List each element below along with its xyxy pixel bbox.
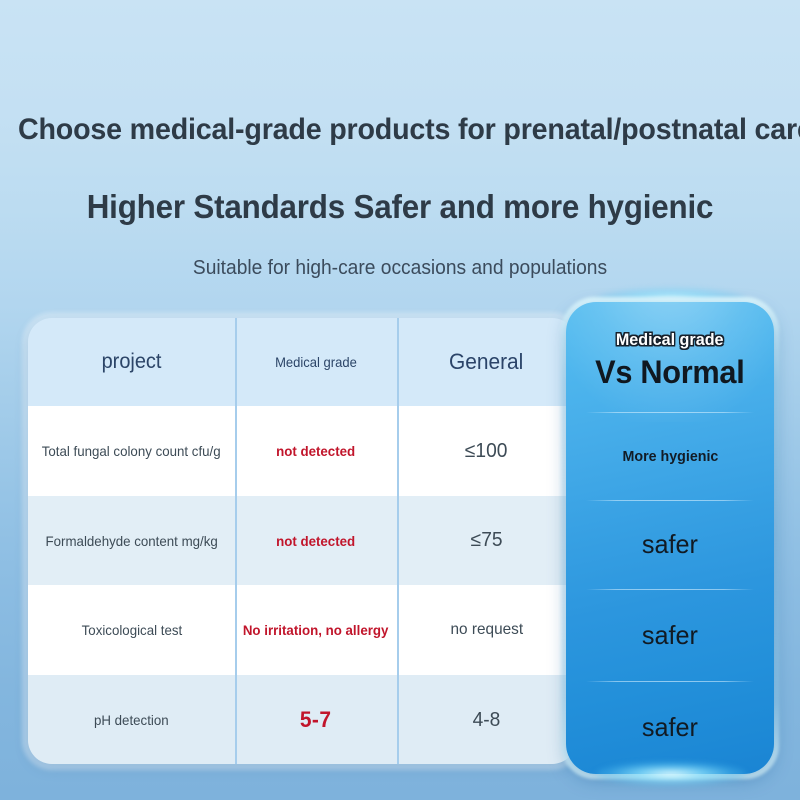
cell-text-general: ≤100 [465, 440, 508, 463]
cell-medical: not detected [235, 406, 397, 496]
cell-general: ≤100 [397, 406, 576, 496]
header-cell-project: project [28, 318, 235, 406]
cell-text-project: Total fungal colony count cfu/g [42, 443, 221, 459]
cell-medical: No irritation, no allergy [235, 585, 397, 675]
panel-item: safer [566, 500, 774, 589]
page-title-secondary: Higher Standards Safer and more hygienic [20, 188, 780, 226]
table-row: pH detection 5-7 4-8 [28, 675, 576, 764]
cell-text-medical: not detected [276, 533, 355, 549]
cell-project: Formaldehyde content mg/kg [28, 496, 235, 585]
panel-divider [586, 681, 754, 682]
panel-item-label: safer [642, 529, 698, 560]
panel-header: Medical grade Vs Normal [566, 302, 774, 412]
panel-item: safer [566, 681, 774, 774]
cell-text-general: ≤75 [471, 529, 503, 552]
panel-divider [586, 412, 754, 413]
header-cell-medical: Medical grade [235, 318, 397, 406]
column-divider-1 [235, 496, 237, 585]
panel-item-label: safer [642, 620, 698, 651]
panel-divider [586, 500, 754, 501]
cell-medical: 5-7 [235, 675, 397, 764]
header-label-general: General [449, 349, 523, 375]
column-divider-1 [235, 675, 237, 764]
column-divider-2 [397, 496, 399, 585]
column-divider-1 [235, 585, 237, 675]
cell-text-general: no request [450, 621, 523, 639]
panel-item: More hygienic [566, 412, 774, 500]
page-subtitle: Suitable for high-care occasions and pop… [16, 257, 784, 280]
cell-general: no request [397, 585, 576, 675]
highlight-panel: Medical grade Vs Normal More hygienic sa… [566, 302, 774, 774]
cell-text-medical: No irritation, no allergy [243, 622, 389, 638]
cell-medical: not detected [235, 496, 397, 585]
panel-divider [586, 589, 754, 590]
header-label-medical: Medical grade [275, 354, 357, 370]
table-row: Total fungal colony count cfu/g not dete… [28, 406, 576, 496]
header-label-project: project [102, 350, 162, 374]
column-divider-2 [397, 318, 399, 406]
page-title-primary: Choose medical-grade products for prenat… [18, 113, 782, 147]
cell-project: Toxicological test [28, 585, 235, 675]
panel-item-label: safer [642, 712, 698, 743]
cell-project: pH detection [28, 675, 235, 764]
cell-project: Total fungal colony count cfu/g [28, 406, 235, 496]
comparison-table: project Medical grade General Total fung… [28, 318, 576, 764]
column-divider-2 [397, 675, 399, 764]
cell-text-project: Toxicological test [81, 622, 182, 638]
column-divider-1 [235, 318, 237, 406]
cell-text-medical: 5-7 [300, 707, 332, 733]
cell-text-project: pH detection [94, 712, 169, 728]
panel-title: Vs Normal [595, 354, 744, 391]
header-cell-general: General [397, 318, 576, 406]
cell-text-project: Formaldehyde content mg/kg [45, 533, 217, 549]
cell-text-medical: not detected [276, 443, 355, 459]
panel-eyebrow-label: Medical grade [616, 330, 724, 350]
panel-item: safer [566, 589, 774, 681]
poster-root: Choose medical-grade products for prenat… [0, 0, 800, 800]
column-divider-1 [235, 406, 237, 496]
table-row: Formaldehyde content mg/kg not detected … [28, 496, 576, 585]
column-divider-2 [397, 406, 399, 496]
table-header-row: project Medical grade General [28, 318, 576, 406]
cell-general: 4-8 [397, 675, 576, 764]
cell-general: ≤75 [397, 496, 576, 585]
table-row: Toxicological test No irritation, no all… [28, 585, 576, 675]
panel-item-label: More hygienic [622, 448, 718, 465]
cell-text-general: 4-8 [473, 709, 501, 732]
column-divider-2 [397, 585, 399, 675]
